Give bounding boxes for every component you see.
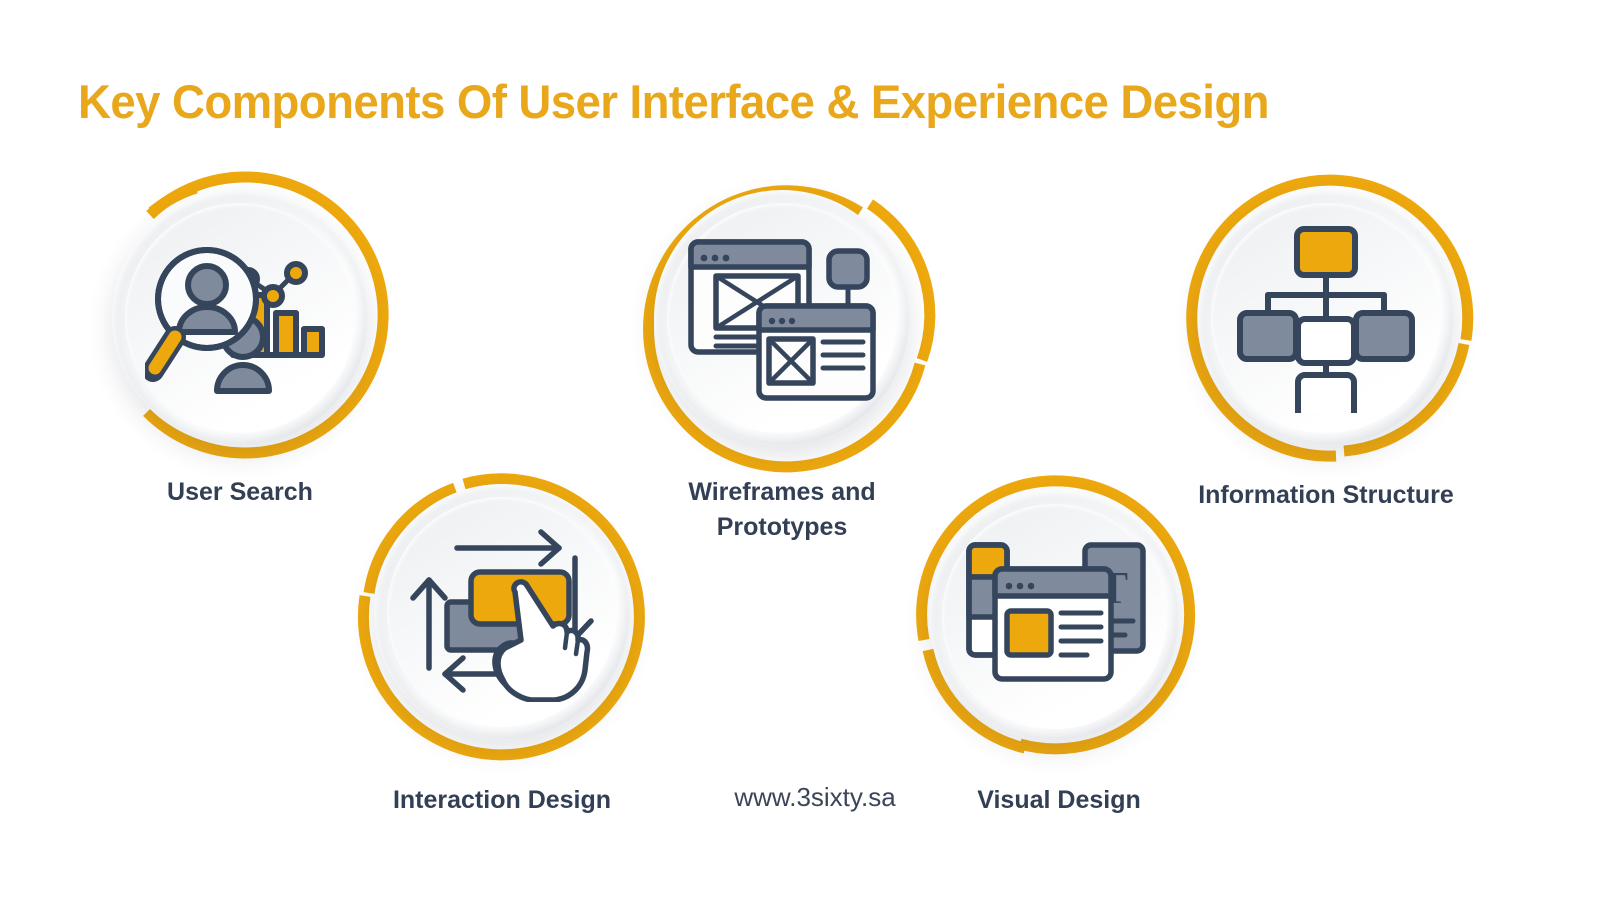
website-url: www.3sixty.sa (650, 782, 980, 813)
page-title: Key Components Of User Interface & Exper… (78, 74, 1485, 129)
component-badge-information-structure[interactable] (1176, 168, 1476, 468)
hand-drag-arrows-icon (352, 462, 652, 762)
browser-wireframes-icon (632, 168, 932, 468)
infographic-canvas: Key Components Of User Interface & Exper… (0, 0, 1600, 900)
component-badge-wireframes-and-prototypes[interactable] (632, 168, 932, 468)
label-information-structure: Information Structure (1146, 478, 1506, 513)
magnifier-person-chart-icon (90, 168, 390, 468)
component-badge-user-search[interactable] (90, 168, 390, 468)
component-badge-interaction-design[interactable] (352, 462, 652, 762)
label-wireframes-and-prototypes: Wireframes and Prototypes (622, 475, 942, 544)
label-interaction-design: Interaction Design (332, 783, 672, 818)
label-user-search: User Search (90, 475, 390, 510)
hierarchy-sitemap-icon (1176, 168, 1476, 468)
palette-typography-window-icon: T (908, 470, 1200, 762)
component-badge-visual-design[interactable]: T (908, 470, 1200, 762)
